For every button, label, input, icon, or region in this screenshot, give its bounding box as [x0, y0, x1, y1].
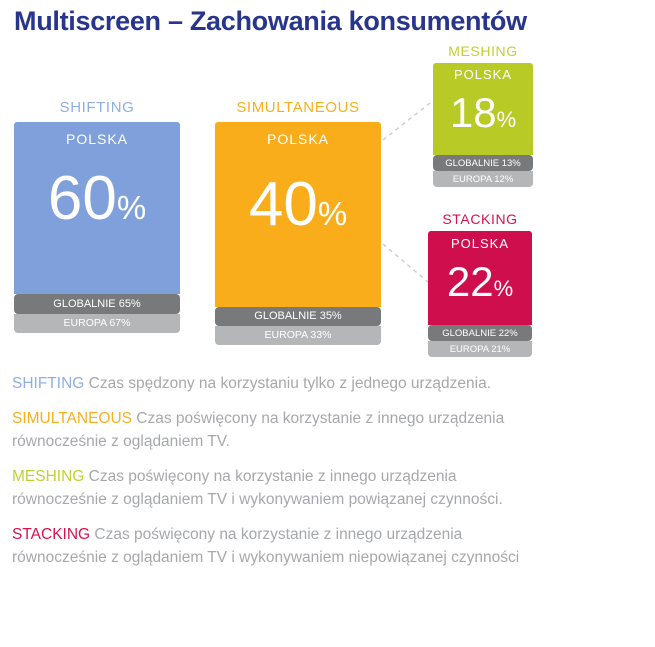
- legend-term-shifting: SHIFTING: [12, 375, 84, 392]
- card-simultaneous-percent-sign: %: [318, 195, 347, 232]
- legend-desc-shifting: Czas spędzony na korzystaniu tylko z jed…: [84, 375, 491, 392]
- legend-item-simultaneous: SIMULTANEOUS Czas poświęcony na korzysta…: [12, 407, 552, 453]
- card-simultaneous[interactable]: SIMULTANEOUS POLSKA 40% GLOBALNIE 35% EU…: [215, 100, 381, 345]
- card-stacking-bar: POLSKA 22%: [428, 231, 532, 325]
- card-simultaneous-label: SIMULTANEOUS: [215, 100, 381, 117]
- card-meshing-percent-sign: %: [497, 107, 517, 132]
- card-shifting-country: POLSKA: [14, 131, 180, 147]
- legend-desc-meshing: Czas poświęcony na korzystanie z innego …: [12, 468, 503, 508]
- card-simultaneous-country: POLSKA: [215, 131, 381, 147]
- card-stacking-label: STACKING: [428, 212, 532, 227]
- card-shifting-value: 60%: [14, 168, 180, 230]
- legend-term-simultaneous: SIMULTANEOUS: [12, 410, 132, 427]
- card-shifting-bar: POLSKA 60%: [14, 122, 180, 294]
- card-simultaneous-europe: EUROPA 33%: [215, 326, 381, 345]
- card-meshing-global: GLOBALNIE 13%: [433, 155, 533, 171]
- card-meshing-value: 18%: [433, 92, 533, 134]
- legend-item-stacking: STACKING Czas poświęcony na korzystanie …: [12, 523, 552, 569]
- card-meshing-label: MESHING: [433, 44, 533, 59]
- page-title: Multiscreen – Zachowania konsumentów: [14, 6, 527, 37]
- card-meshing-europe: EUROPA 12%: [433, 171, 533, 187]
- legend-term-stacking: STACKING: [12, 526, 90, 543]
- card-simultaneous-bar: POLSKA 40%: [215, 122, 381, 307]
- card-stacking-global: GLOBALNIE 22%: [428, 325, 532, 341]
- card-stacking[interactable]: STACKING POLSKA 22% GLOBALNIE 22% EUROPA…: [428, 212, 532, 357]
- card-stacking-percent-sign: %: [494, 276, 514, 301]
- legend-term-meshing: MESHING: [12, 468, 84, 485]
- card-stacking-value: 22%: [428, 261, 532, 303]
- card-meshing-country: POLSKA: [433, 67, 533, 82]
- card-simultaneous-value: 40%: [215, 174, 381, 236]
- card-stacking-country: POLSKA: [428, 236, 532, 251]
- legend-item-shifting: SHIFTING Czas spędzony na korzystaniu ty…: [12, 372, 552, 395]
- card-meshing[interactable]: MESHING POLSKA 18% GLOBALNIE 13% EUROPA …: [433, 44, 533, 187]
- card-shifting[interactable]: SHIFTING POLSKA 60% GLOBALNIE 65% EUROPA…: [14, 100, 180, 333]
- card-shifting-percent-sign: %: [117, 189, 146, 226]
- legend-item-meshing: MESHING Czas poświęcony na korzystanie z…: [12, 465, 552, 511]
- card-shifting-europe: EUROPA 67%: [14, 314, 180, 333]
- card-meshing-number: 18: [450, 89, 497, 136]
- legend: SHIFTING Czas spędzony na korzystaniu ty…: [12, 372, 552, 581]
- card-simultaneous-global: GLOBALNIE 35%: [215, 307, 381, 326]
- card-simultaneous-number: 40: [249, 170, 318, 239]
- card-shifting-global: GLOBALNIE 65%: [14, 294, 180, 314]
- card-shifting-number: 60: [48, 164, 117, 233]
- card-stacking-number: 22: [447, 258, 494, 305]
- card-stacking-europe: EUROPA 21%: [428, 341, 532, 357]
- card-shifting-label: SHIFTING: [14, 100, 180, 117]
- card-meshing-bar: POLSKA 18%: [433, 63, 533, 155]
